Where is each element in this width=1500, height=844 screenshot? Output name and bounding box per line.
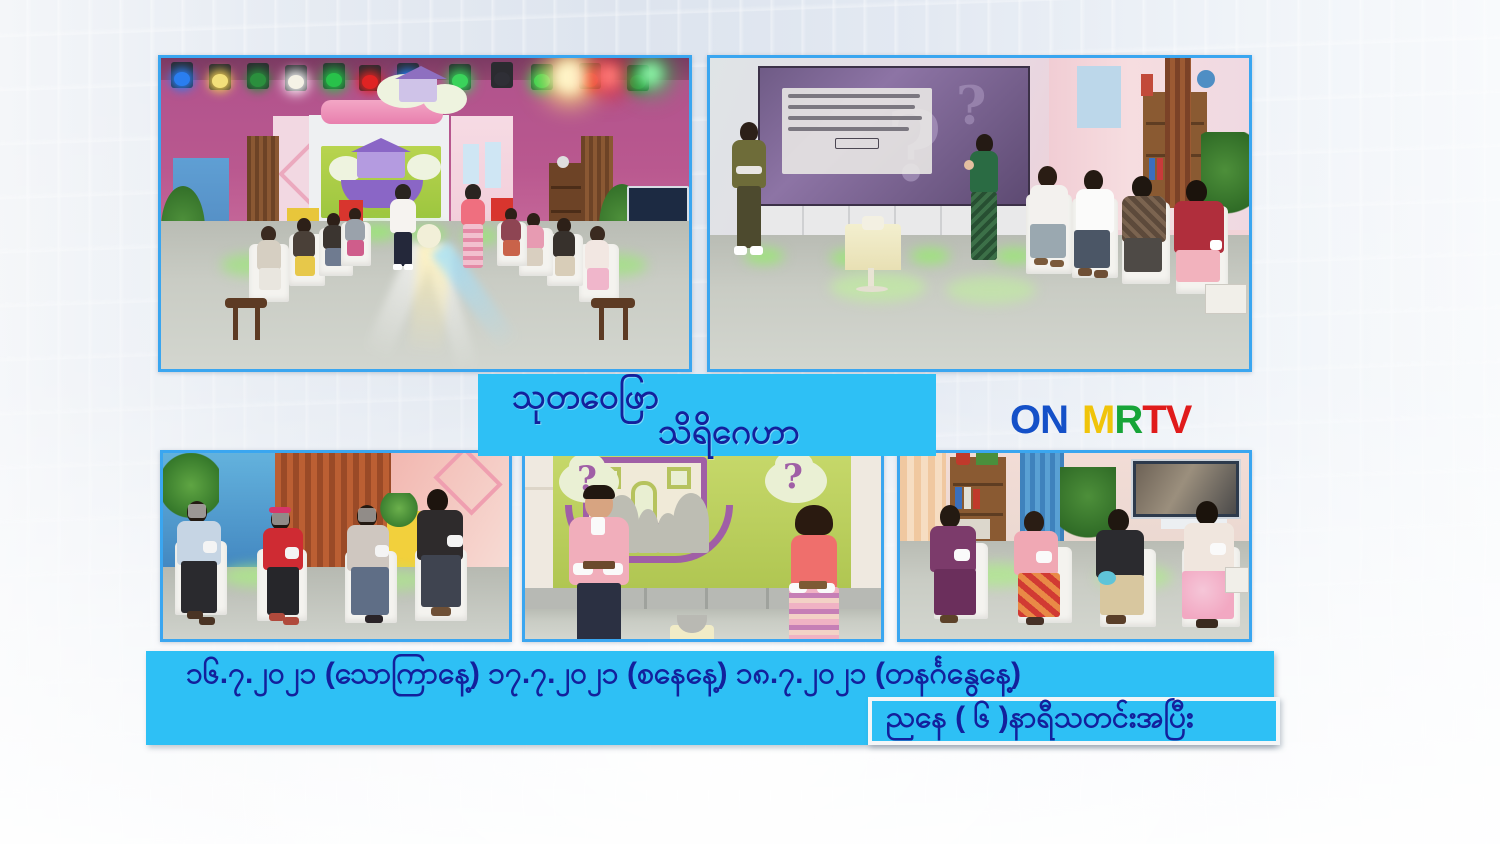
channel-logo: ON M R T V	[1010, 398, 1191, 443]
program-title-banner: သုတဝေဖြာ သိရိဂေဟာ	[478, 374, 936, 456]
photo-bottom-right-guests	[897, 450, 1252, 642]
mrtv-wordmark: M R T V	[1082, 398, 1191, 443]
studio-scene-wide	[161, 58, 689, 369]
studio-scene-presenters: ? ?	[525, 453, 881, 639]
studio-scene-guests-left	[163, 453, 509, 639]
mrtv-letter-m: M	[1082, 398, 1114, 443]
studio-scene-guests-right	[900, 453, 1249, 639]
channel-on-label: ON	[1010, 398, 1068, 443]
program-title-line-1: သုတဝေဖြာ	[512, 374, 659, 426]
mrtv-letter-t: T	[1142, 398, 1165, 443]
photo-bottom-left-guests	[160, 450, 512, 642]
studio-scene-presentation: ? ?	[710, 58, 1249, 369]
mrtv-letter-v: V	[1166, 398, 1192, 443]
photo-top-left-studio-wide	[158, 55, 692, 372]
schedule-dates-text: ၁၆.၇.၂၀၂၁ (သောကြာနေ့) ၁၇.၇.၂၀၂၁ (စနေနေ့)…	[186, 653, 1021, 698]
schedule-time-banner: ညနေ ( ၆ )နာရီသတင်းအပြီး	[868, 697, 1280, 745]
photo-top-right-presentation: ? ?	[707, 55, 1252, 372]
schedule-time-text: ညနေ ( ၆ )နာရီသတင်းအပြီး	[886, 697, 1194, 742]
mrtv-letter-r: R	[1114, 398, 1142, 443]
program-title-line-2: သိရိဂေဟာ	[658, 409, 800, 461]
photo-bottom-center-presenters: ? ?	[522, 450, 884, 642]
